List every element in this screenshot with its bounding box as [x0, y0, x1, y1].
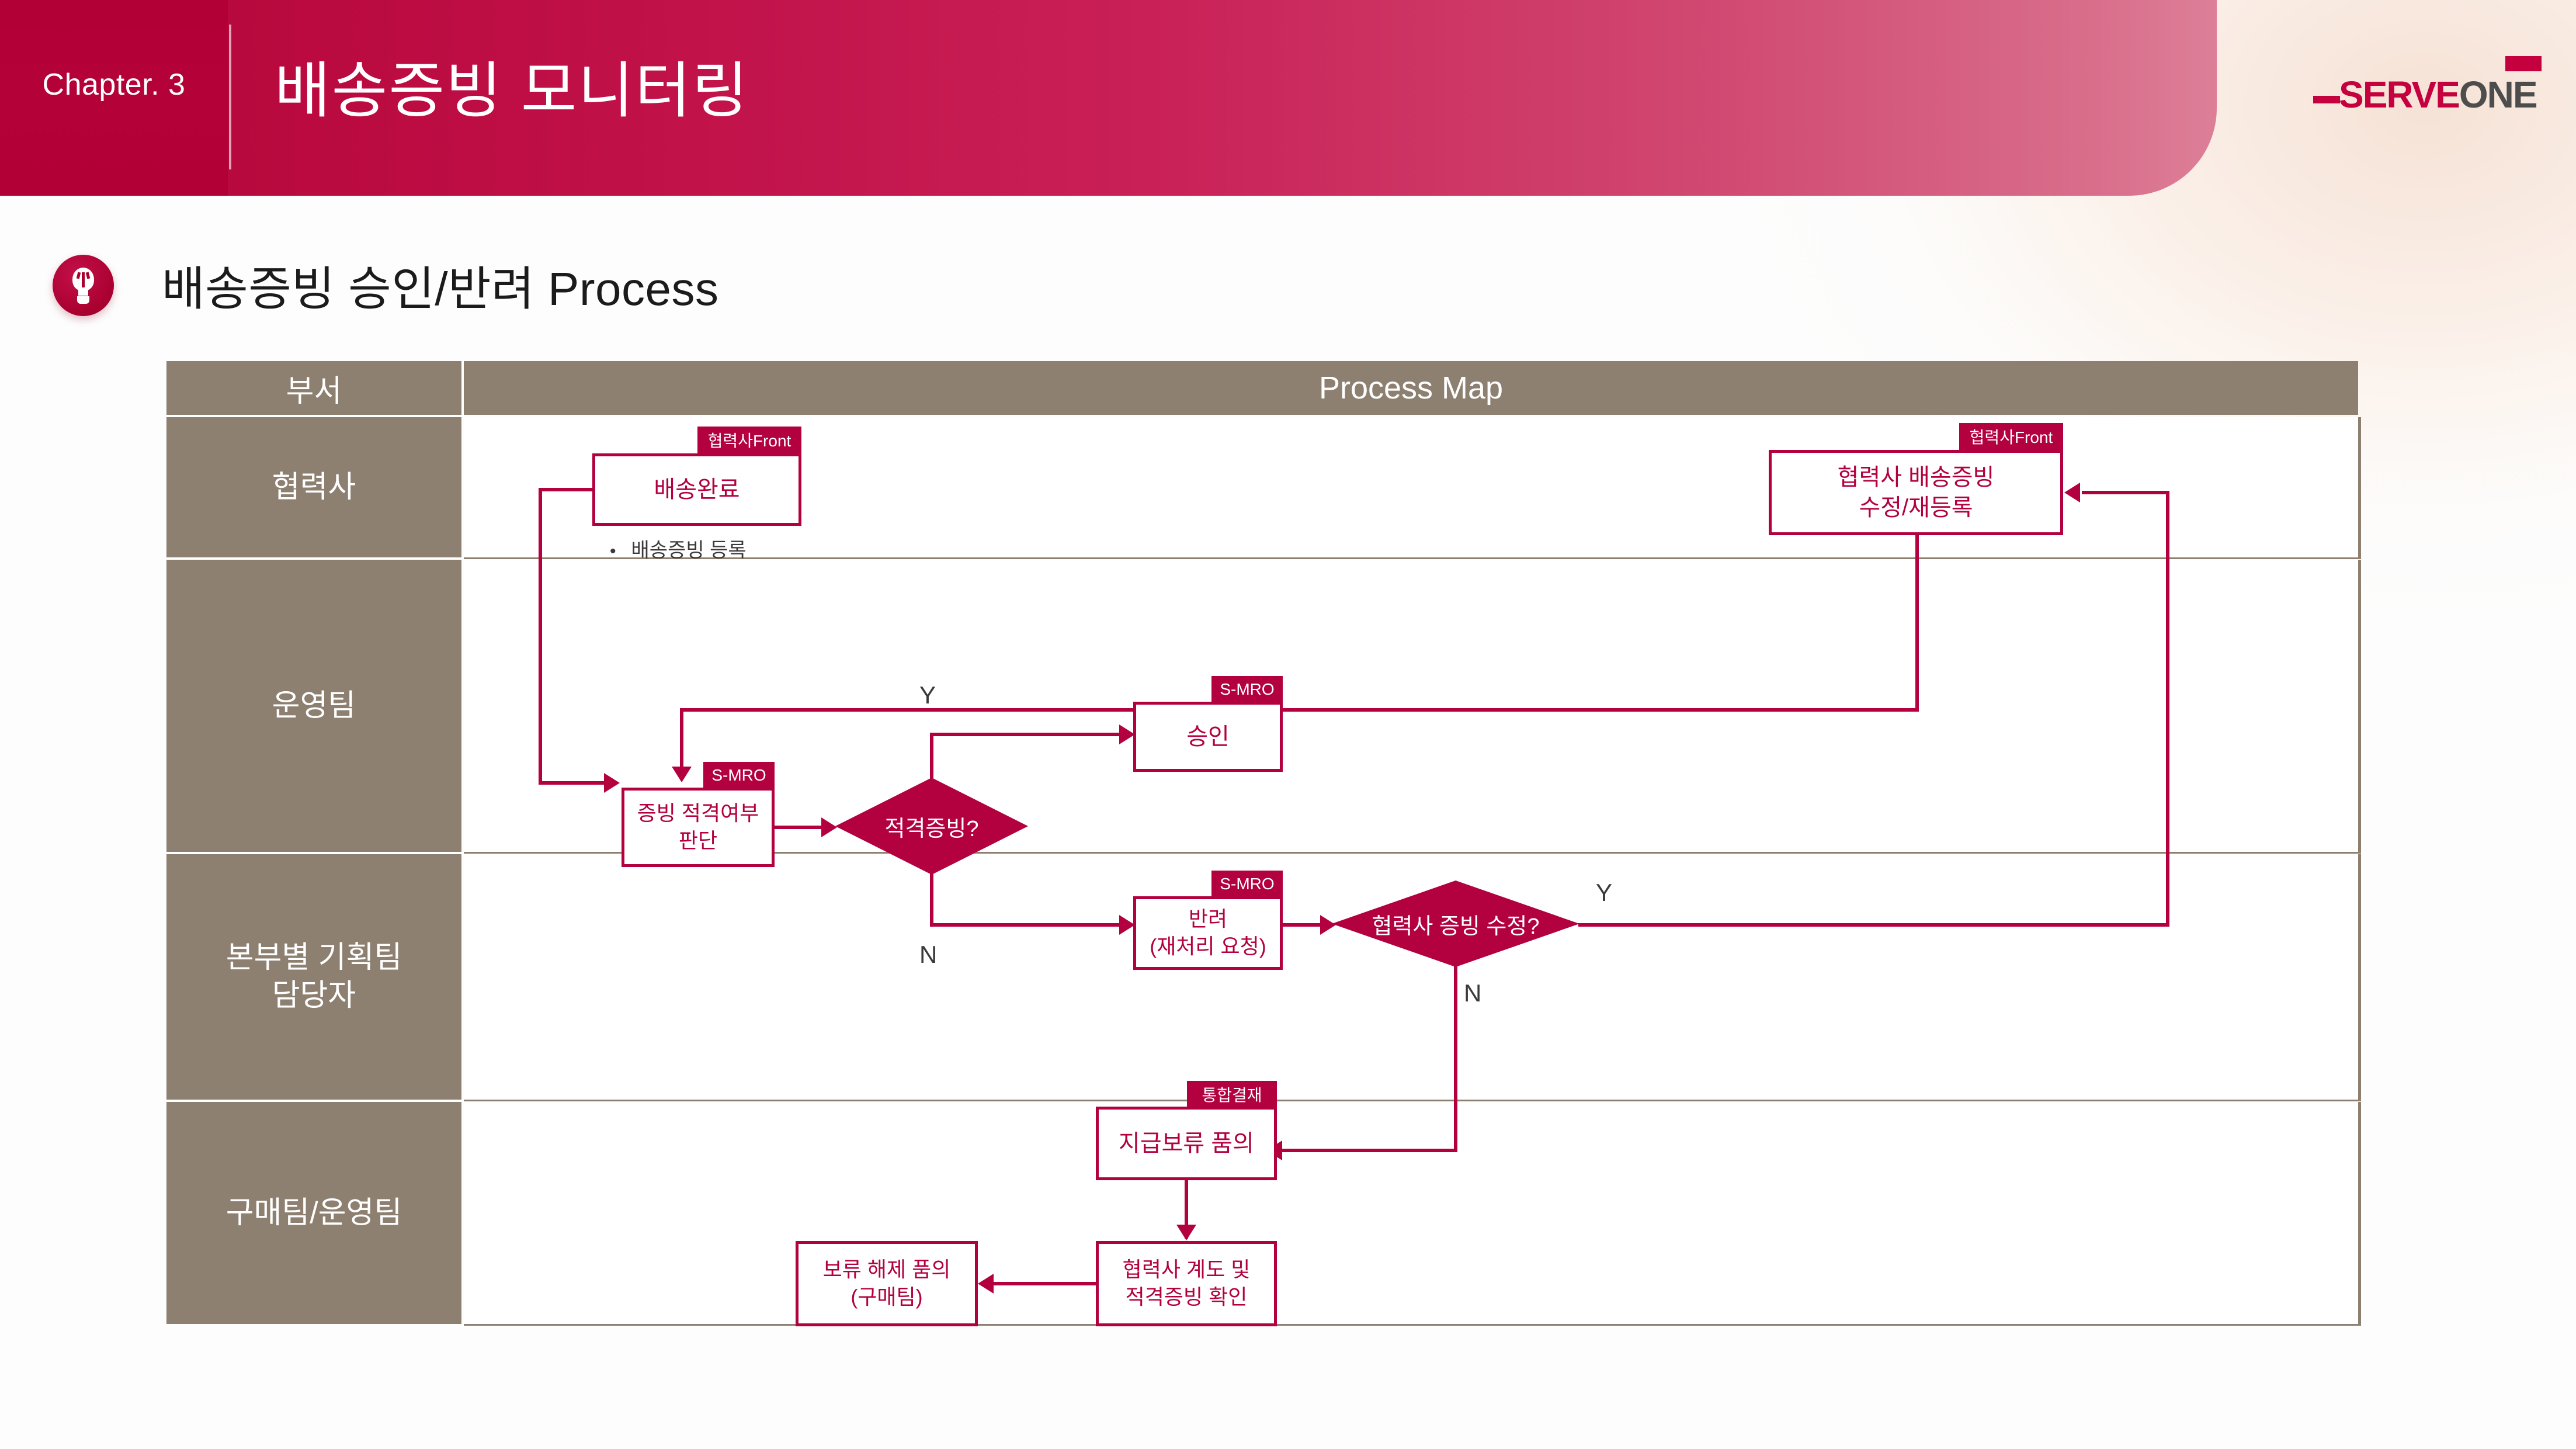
node-payment-hold-request[interactable]: 지급보류 품의 — [1096, 1107, 1277, 1180]
node-partner-proof-edit-decision-label: 협력사 증빙 수정? — [1372, 908, 1540, 940]
edge-edit-yes-v — [2166, 491, 2169, 927]
header-band: Chapter. 3 배송증빙 모니터링 — [0, 0, 2217, 196]
serveone-logo: SERVEONE — [2313, 76, 2537, 123]
row-label-operations: 운영팀 — [166, 560, 461, 852]
arrow-into-partner-proof-edit — [2064, 483, 2080, 502]
arrow-into-judge-left — [604, 773, 620, 793]
edge-label-eligible-no: N — [919, 941, 937, 969]
node-partner-guidance[interactable]: 협력사 계도 및 적격증빙 확인 — [1096, 1241, 1277, 1326]
note-proof-register: 배송증빙 등록 — [610, 534, 747, 563]
page-title: 배송증빙 모니터링 — [275, 0, 749, 169]
node-eligible-proof-decision-label: 적격증빙? — [885, 810, 979, 843]
arrow-into-approve — [1119, 724, 1135, 744]
edge-judge-to-decision — [775, 826, 825, 829]
arrow-into-judge-top — [672, 767, 692, 782]
arrow-into-reject — [1119, 915, 1135, 935]
lightbulb-icon — [53, 255, 114, 316]
logo-one-text: ONE — [2459, 74, 2537, 116]
logo-underscore-mark — [2313, 96, 2340, 103]
section-title: 배송증빙 승인/반려 Process — [162, 251, 718, 319]
row-label-planning: 본부별 기획팀 담당자 — [166, 854, 461, 1100]
process-map-table: 부서 Process Map 협력사 운영팀 본부별 기획팀 담당자 구매팀/운… — [166, 361, 2358, 1382]
arrow-into-eligible-decision — [821, 817, 837, 837]
edge-edit-no-v — [1454, 965, 1457, 1152]
node-partner-proof-edit[interactable]: 협력사 배송증빙 수정/재등록 — [1769, 450, 2063, 535]
node-eligible-proof-decision: 적격증빙? — [835, 778, 1028, 875]
node-proof-eligibility-judge[interactable]: 증빙 적격여부 판단 — [622, 788, 775, 867]
edge-reject-to-edit-decision — [1283, 923, 1324, 927]
column-header-process-map: Process Map — [464, 361, 2358, 415]
edge-label-edit-no: N — [1464, 979, 1481, 1007]
edge-eligible-no-h — [930, 923, 1123, 927]
column-header-dept: 부서 — [166, 361, 461, 415]
chapter-label: Chapter. 3 — [0, 0, 228, 169]
edge-delivery-to-judge-h1 — [539, 488, 593, 491]
tag-approve: S-MRO — [1211, 676, 1283, 703]
node-delivery-complete[interactable]: 배송완료 — [592, 453, 801, 526]
edge-eligible-no-v — [930, 873, 933, 927]
edge-edit-yes-h1 — [1578, 923, 2169, 927]
section-heading: 배송증빙 승인/반려 Process — [53, 251, 718, 319]
edge-label-edit-yes: Y — [1596, 879, 1612, 907]
tag-payment-hold-request: 통합결재 — [1187, 1081, 1277, 1108]
edge-guidance-to-release — [990, 1282, 1096, 1285]
edge-delivery-to-judge-v — [539, 488, 542, 785]
node-reject[interactable]: 반려 (재처리 요청) — [1133, 896, 1283, 970]
tag-partner-proof-edit: 협력사Front — [1959, 423, 2063, 450]
logo-dash-mark — [2505, 56, 2542, 71]
edge-eligible-yes-h — [930, 733, 1123, 736]
tag-reject: S-MRO — [1211, 871, 1283, 897]
arrow-into-guidance — [1176, 1225, 1196, 1240]
logo-serve-text: SERVE — [2339, 74, 2459, 116]
edge-edit-no-h — [1282, 1149, 1457, 1152]
edge-label-eligible-yes: Y — [919, 681, 936, 709]
edge-edit-to-judge-h — [680, 708, 1919, 712]
edge-eligible-yes-v — [930, 733, 933, 779]
node-hold-release-request[interactable]: 보류 해제 품의 (구매팀) — [796, 1241, 978, 1326]
arrow-into-hold-release — [978, 1274, 994, 1294]
node-approve[interactable]: 승인 — [1133, 702, 1283, 772]
edge-edit-yes-h2 — [2082, 491, 2169, 494]
header-divider — [229, 25, 231, 169]
edge-delivery-to-judge-h2 — [539, 781, 609, 785]
edge-edit-to-judge-v2 — [680, 708, 683, 775]
row-label-partner: 협력사 — [166, 417, 461, 557]
tag-proof-eligibility-judge: S-MRO — [703, 762, 775, 789]
edge-edit-to-judge-v1 — [1915, 535, 1919, 712]
tag-delivery-complete: 협력사Front — [697, 427, 801, 453]
row-label-purchasing: 구매팀/운영팀 — [166, 1102, 461, 1324]
flow-diagram: 협력사Front 배송완료 배송증빙 등록 협력사Front 협력사 배송증빙 … — [464, 417, 2358, 1382]
node-partner-proof-edit-decision: 협력사 증빙 수정? — [1332, 881, 1579, 967]
